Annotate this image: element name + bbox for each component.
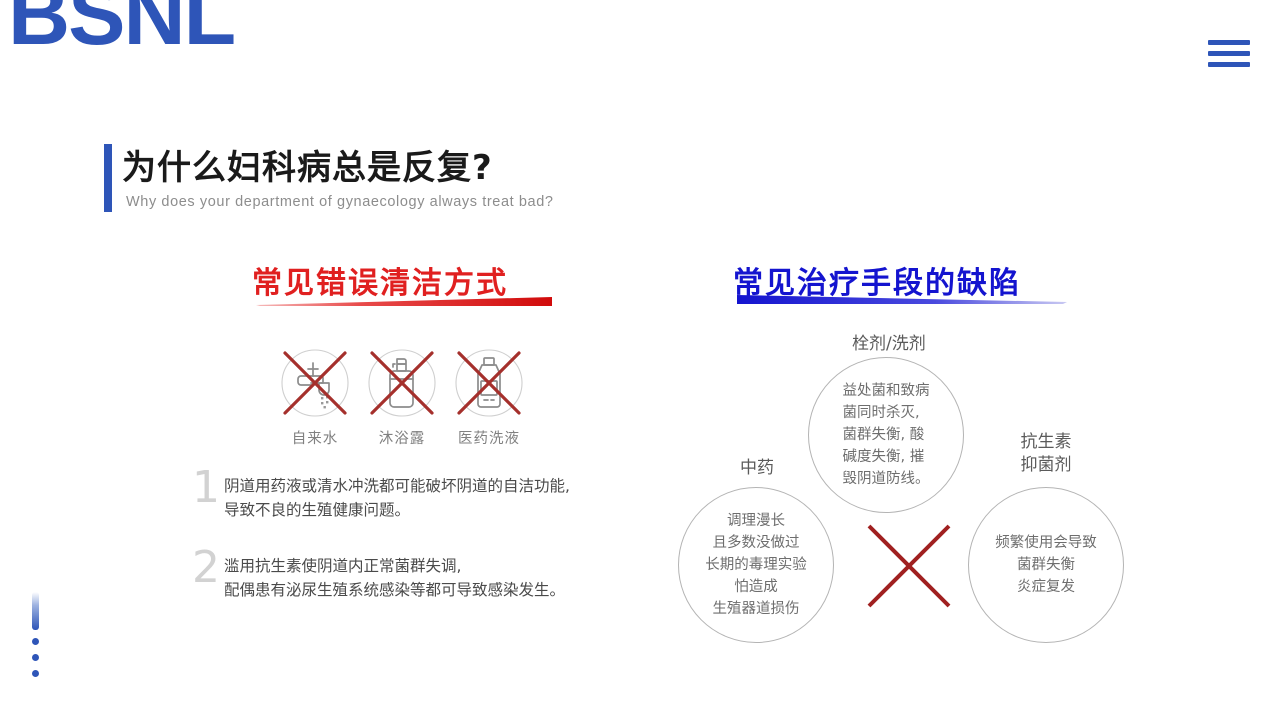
hamburger-bar [1208, 51, 1250, 56]
slide-indicator[interactable] [32, 592, 46, 678]
page-header: BSNL [0, 0, 1280, 90]
slide-indicator-dot[interactable] [32, 654, 39, 661]
note-number: 2 [192, 546, 220, 590]
wrong-cleaning-item: 医药洗液 [451, 345, 527, 448]
note-text: 阴道用药液或清水冲洗都可能破坏阴道的自洁功能, 导致不良的生殖健康问题。 [224, 474, 662, 522]
wrong-cleaning-notes: 1 阴道用药液或清水冲洗都可能破坏阴道的自洁功能, 导致不良的生殖健康问题。 2… [192, 474, 662, 634]
faucet-tap-icon [277, 345, 353, 421]
note-line: 配偶患有泌尿生殖系统感染等都可导致感染发生。 [224, 578, 662, 602]
wrong-cleaning-item: 沐浴露 [364, 345, 440, 448]
left-heading-underline [256, 296, 552, 307]
note-item: 2 滥用抗生素使阴道内正常菌群失调, 配偶患有泌尿生殖系统感染等都可导致感染发生… [192, 554, 662, 610]
circle-text: 频繁使用会导致菌群失衡炎症复发 [995, 532, 1097, 598]
circle-suppository: 益处菌和致病菌同时杀灭,菌群失衡, 酸碱度失衡, 摧毁阴道防线。 [808, 357, 964, 513]
circle-label-chinese-medicine: 中药 [722, 457, 792, 480]
page-subtitle: Why does your department of gynaecology … [126, 194, 554, 210]
pump-bottle-icon [364, 345, 440, 421]
circle-label-suppository: 栓剂/洗剂 [852, 333, 922, 356]
medicine-bottle-icon [451, 345, 527, 421]
title-accent-bar [104, 144, 112, 212]
note-number: 1 [192, 466, 220, 510]
circle-text: 调理漫长且多数没做过长期的毒理实验怕造成生殖器道损伤 [705, 510, 807, 620]
circle-chinese-medicine: 调理漫长且多数没做过长期的毒理实验怕造成生殖器道损伤 [678, 487, 834, 643]
page-title: 为什么妇科病总是反复? [122, 140, 493, 189]
right-heading-underline [737, 294, 1067, 305]
note-text: 滥用抗生素使阴道内正常菌群失调, 配偶患有泌尿生殖系统感染等都可导致感染发生。 [224, 554, 662, 602]
slide-indicator-dot[interactable] [32, 670, 39, 677]
note-line: 导致不良的生殖健康问题。 [224, 498, 662, 522]
wrong-cleaning-icon-row: 自来水 沐浴露 [277, 345, 537, 455]
treatment-flaws-diagram: 栓剂/洗剂 益处菌和致病菌同时杀灭,菌群失衡, 酸碱度失衡, 摧毁阴道防线。 中… [660, 335, 1160, 680]
hamburger-bar [1208, 62, 1250, 67]
note-line: 阴道用药液或清水冲洗都可能破坏阴道的自洁功能, [224, 474, 662, 498]
note-item: 1 阴道用药液或清水冲洗都可能破坏阴道的自洁功能, 导致不良的生殖健康问题。 [192, 474, 662, 530]
icon-label: 医药洗液 [451, 427, 527, 448]
wrong-cleaning-item: 自来水 [277, 345, 353, 448]
hamburger-menu-icon[interactable] [1208, 40, 1250, 68]
icon-label: 自来水 [277, 427, 353, 448]
note-line: 滥用抗生素使阴道内正常菌群失调, [224, 554, 662, 578]
red-x-icon [863, 520, 955, 612]
slide-indicator-dot[interactable] [32, 638, 39, 645]
circle-antibiotics: 频繁使用会导致菌群失衡炎症复发 [968, 487, 1124, 643]
circle-label-antibiotics: 抗生素抑菌剂 [1010, 431, 1082, 477]
circle-text: 益处菌和致病菌同时杀灭,菌群失衡, 酸碱度失衡, 摧毁阴道防线。 [843, 380, 930, 490]
hamburger-bar [1208, 40, 1250, 45]
slide-indicator-active-bar[interactable] [32, 592, 39, 630]
icon-label: 沐浴露 [364, 427, 440, 448]
bsnl-logo: BSNL [8, 0, 234, 58]
